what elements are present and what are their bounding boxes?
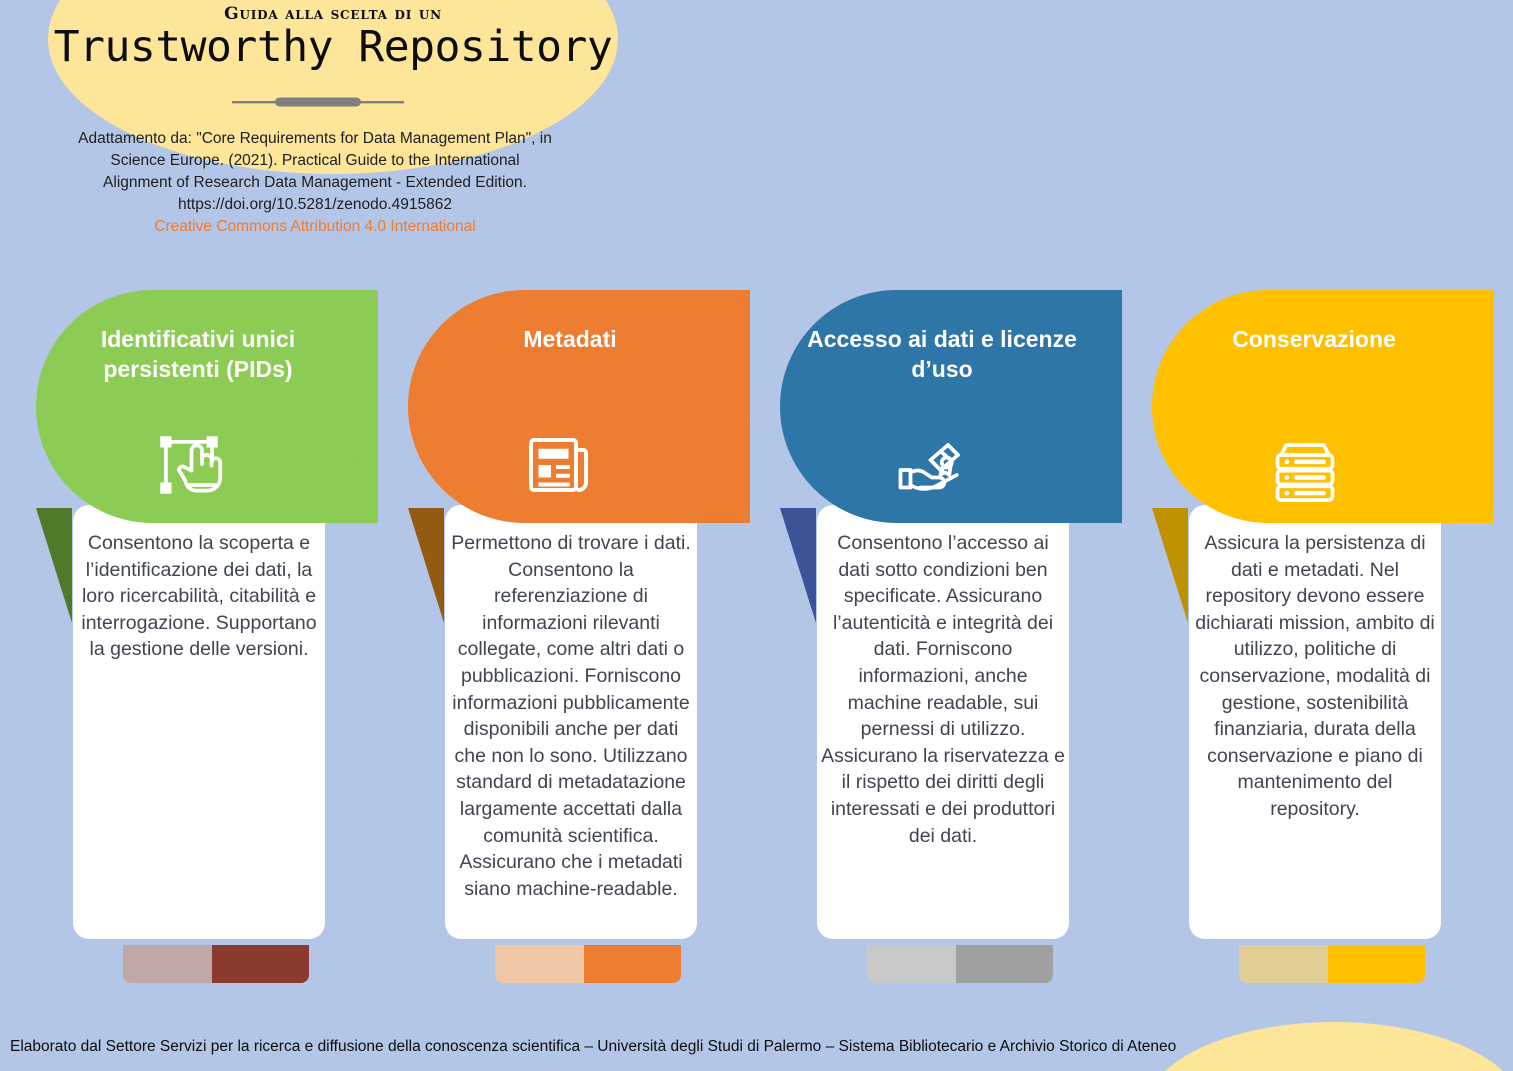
infographic-canvas: Guida alla scelta di un Trustworthy Repo… bbox=[0, 0, 1513, 1071]
card-bar-right bbox=[212, 945, 309, 983]
server-stack-icon bbox=[1134, 425, 1476, 510]
hero-kicker: Guida alla scelta di un bbox=[48, 4, 618, 24]
card-bar-right bbox=[1328, 945, 1425, 983]
card-title: Accesso ai dati e licenze d’uso bbox=[792, 324, 1092, 384]
card-bar-left bbox=[867, 945, 956, 983]
newspaper-article-icon bbox=[390, 425, 732, 510]
hand-holding-certificate-icon bbox=[762, 425, 1104, 510]
card-body: Assicura la persistenza di dati e metada… bbox=[1192, 530, 1438, 823]
card-bottom-bar bbox=[495, 945, 681, 983]
card-bar-left bbox=[495, 945, 584, 983]
card-title: Conservazione bbox=[1164, 324, 1464, 354]
attribution-line-2: Science Europe. (2021). Practical Guide … bbox=[0, 150, 630, 172]
attribution-line-1: Adattamento da: "Core Requirements for D… bbox=[0, 128, 630, 150]
card-bar-left bbox=[1239, 945, 1328, 983]
page-title: Trustworthy Repository bbox=[48, 22, 618, 72]
card-fold-decoration bbox=[408, 508, 444, 623]
card-body: Permettono di trovare i dati. Consentono… bbox=[448, 530, 694, 902]
card-fold-decoration bbox=[780, 508, 816, 623]
cursor-select-click-icon bbox=[18, 425, 360, 510]
attribution-block: Adattamento da: "Core Requirements for D… bbox=[0, 128, 630, 238]
card-conservazione[interactable]: Conservazione Assicura la persistenza di… bbox=[1134, 290, 1494, 990]
card-bar-left bbox=[123, 945, 212, 983]
card-fold-decoration bbox=[1152, 508, 1188, 623]
card-fold-decoration bbox=[36, 508, 72, 623]
card-body: Consentono l’accesso ai dati sotto condi… bbox=[820, 530, 1066, 849]
footer-credit: Elaborato dal Settore Servizi per la ric… bbox=[10, 1038, 1510, 1056]
attribution-doi: https://doi.org/10.5281/zenodo.4915862 bbox=[0, 194, 630, 216]
card-accesso-ai-dati-e-licenze-duso[interactable]: Accesso ai dati e licenze d’uso Consento… bbox=[762, 290, 1122, 990]
card-identificativi-unici-persistenti[interactable]: Identificativi unici persistenti (PIDs) … bbox=[18, 290, 378, 990]
card-bottom-bar bbox=[1239, 945, 1425, 983]
card-title: Identificativi unici persistenti (PIDs) bbox=[48, 324, 348, 384]
card-bar-right bbox=[956, 945, 1053, 983]
card-bottom-bar bbox=[123, 945, 309, 983]
card-title: Metadati bbox=[420, 324, 720, 354]
license-label: Creative Commons Attribution 4.0 Interna… bbox=[0, 216, 630, 238]
card-metadati[interactable]: Metadati Permettono di trovare i dati. C… bbox=[390, 290, 750, 990]
card-bottom-bar bbox=[867, 945, 1053, 983]
card-bar-right bbox=[584, 945, 681, 983]
card-body: Consentono la scoperta e l’identificazio… bbox=[76, 530, 322, 663]
divider-ornament bbox=[232, 95, 404, 107]
attribution-line-3: Alignment of Research Data Management - … bbox=[0, 172, 630, 194]
